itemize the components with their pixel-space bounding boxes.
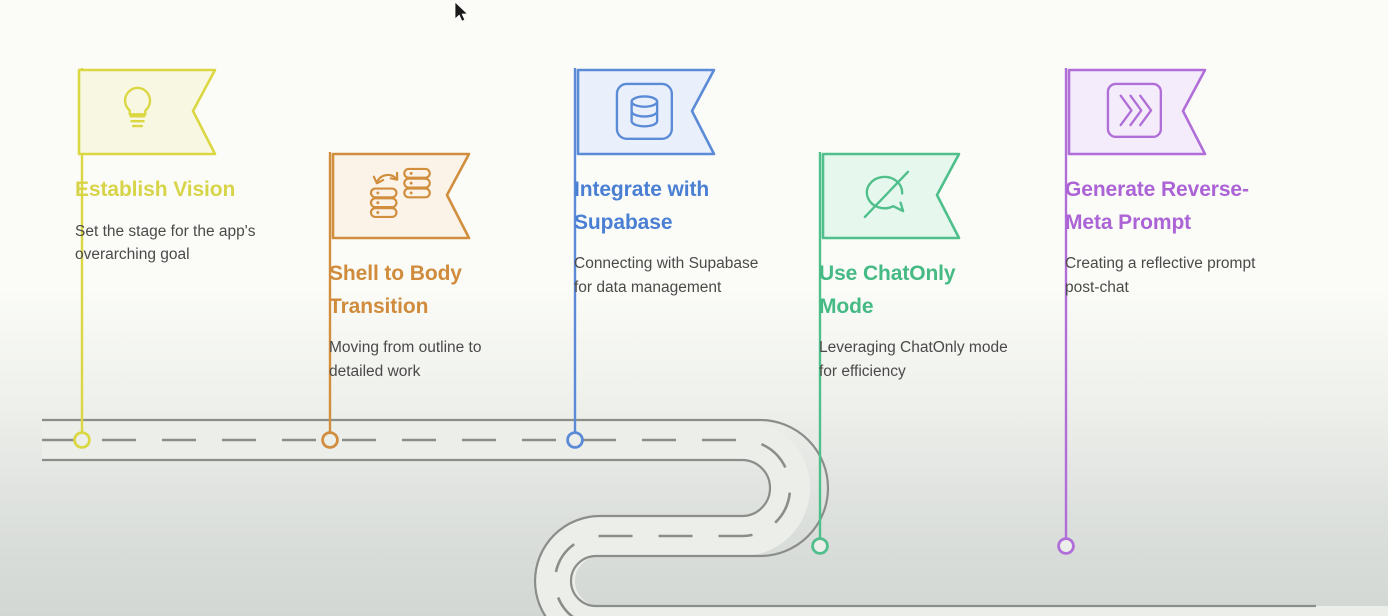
milestone-dot[interactable] [568,433,583,448]
flag-banner [819,150,969,244]
milestone-description: Creating a reflective prompt post-chat [1065,252,1261,299]
milestone-title: Establish Vision [75,174,270,207]
flag-banner [1065,66,1215,160]
roadmap-canvas: Establish VisionSet the stage for the ap… [0,0,1388,616]
milestone-dot[interactable] [75,433,90,448]
milestone-flag[interactable] [574,66,722,158]
milestone-flag[interactable] [1065,66,1213,158]
flag-banner [574,66,724,160]
milestone-dot[interactable] [1059,539,1074,554]
milestone-flag[interactable] [329,150,477,242]
milestone-description: Connecting with Supabase for data manage… [574,252,770,299]
milestone-title: Generate Reverse-Meta Prompt [1065,174,1260,239]
milestone-description: Leveraging ChatOnly mode for efficiency [819,336,1015,383]
milestone-2[interactable]: Shell to Body TransitionMoving from outl… [329,150,525,384]
flag-banner [75,66,225,160]
milestone-1[interactable]: Establish VisionSet the stage for the ap… [75,66,271,267]
milestone-3[interactable]: Integrate with SupabaseConnecting with S… [574,66,770,300]
milestone-flag[interactable] [75,66,223,158]
milestone-title: Shell to Body Transition [329,258,524,323]
milestone-4[interactable]: Use ChatOnly ModeLeveraging ChatOnly mod… [819,150,1015,384]
flag-banner [329,150,479,244]
milestone-flag[interactable] [819,150,967,242]
milestone-description: Set the stage for the app's overarching … [75,220,271,267]
milestone-dot[interactable] [323,433,338,448]
milestone-title: Integrate with Supabase [574,174,769,239]
milestone-5[interactable]: Generate Reverse-Meta PromptCreating a r… [1065,66,1261,300]
milestone-title: Use ChatOnly Mode [819,258,1014,323]
milestone-description: Moving from outline to detailed work [329,336,525,383]
milestone-dot[interactable] [813,539,828,554]
